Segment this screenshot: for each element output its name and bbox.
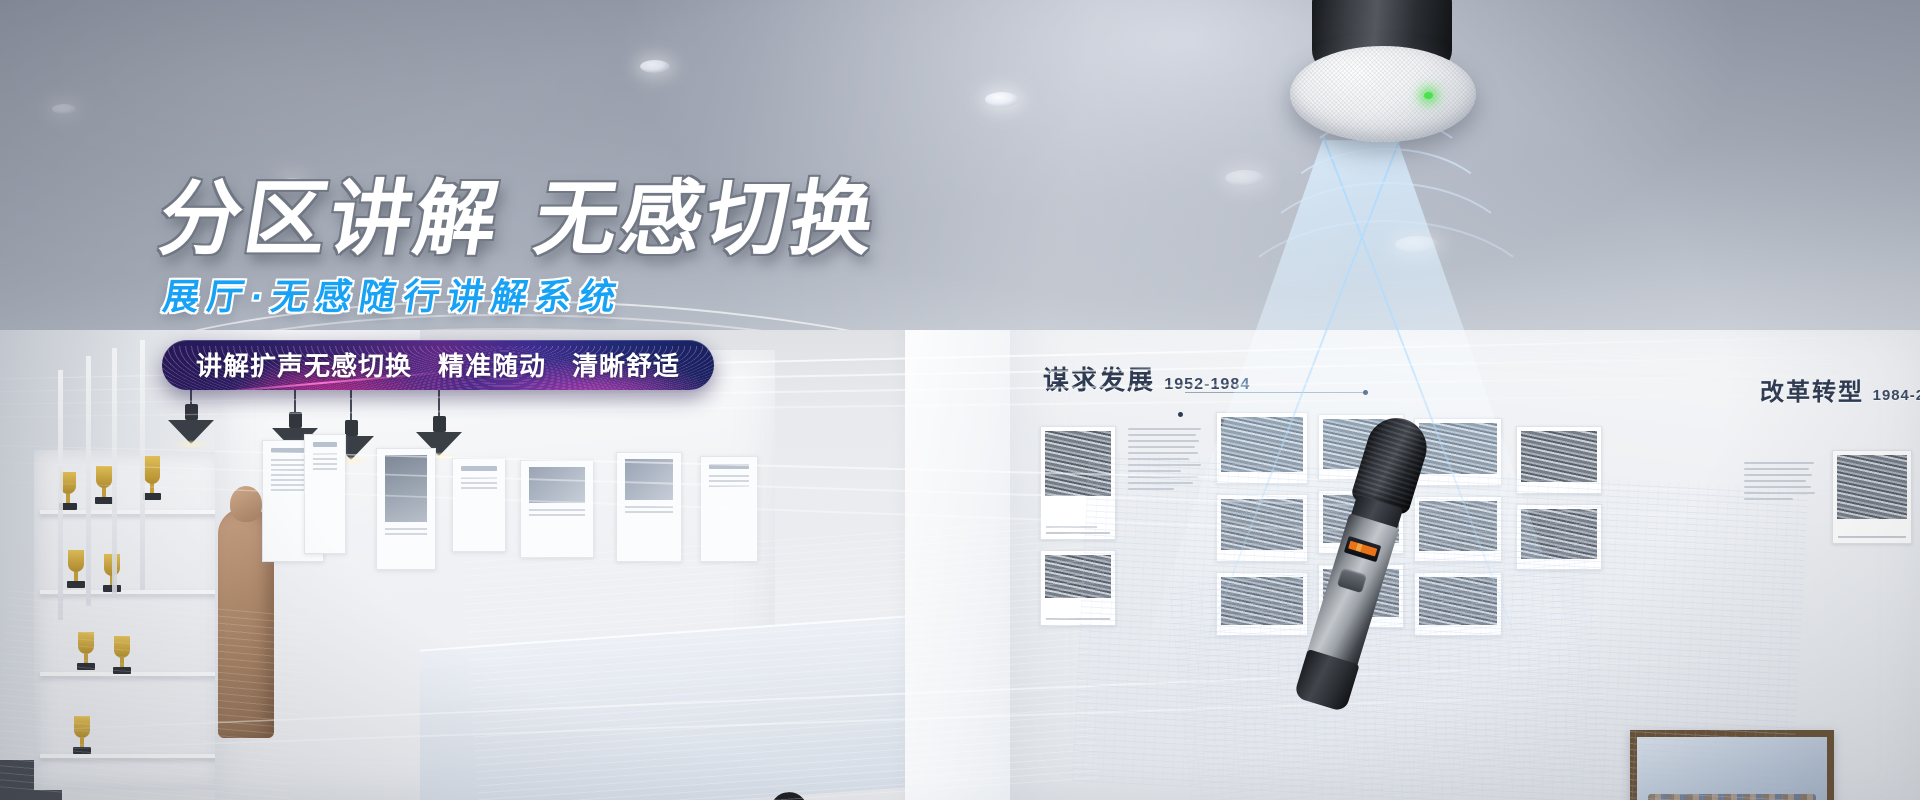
wall-heading-dot (1178, 412, 1183, 417)
page-title-part-1: 分区讲解 (153, 174, 507, 265)
wall-fin (112, 348, 117, 598)
wall-fin (140, 340, 145, 590)
ceiling-downlight (52, 104, 76, 114)
exhibit-panel (452, 458, 506, 552)
history-text-block (1744, 462, 1818, 504)
feature-pill[interactable]: 讲解扩声无感切换精准随动清晰舒适 (162, 340, 714, 390)
feature-item-3: 清晰舒适 (572, 351, 680, 381)
wall-fin (86, 356, 91, 606)
trophy (114, 636, 130, 674)
cabinet-shelf (40, 754, 218, 758)
feature-item-2: 精准随动 (438, 351, 546, 381)
cabinet-shelf (40, 590, 218, 594)
promo-banner: 谋求发展 1952-1984 改革转型 1984-2010 (0, 0, 1920, 800)
wall-heading-2: 改革转型 1984-2010 (1760, 372, 1920, 407)
page-subtitle: 展厅·无感随行讲解系统 (160, 268, 1064, 320)
wall-fin (58, 370, 63, 620)
speaker-status-led-icon (1424, 92, 1433, 99)
ceiling-downlight (640, 60, 670, 73)
history-text-block (1128, 428, 1204, 494)
headline-copy-block: 分区讲解无感切换 展厅·无感随行讲解系统 讲解扩声无感切换精准随动清晰舒适 (160, 178, 1060, 390)
page-title-part-2: 无感切换 (529, 174, 883, 265)
framed-painting (1630, 730, 1834, 800)
exhibit-portrait-panel (376, 448, 436, 570)
feature-item-1: 讲解扩声无感切换 (196, 351, 412, 381)
ceiling-downlight (1225, 170, 1265, 186)
wall-heading-2-title: 改革转型 (1760, 379, 1864, 406)
trophy (144, 456, 160, 500)
history-photo (1040, 550, 1116, 626)
ceiling-speaker (1290, 0, 1480, 154)
feature-pill-text: 讲解扩声无感切换精准随动清晰舒适 (196, 346, 680, 383)
cabinet-shelf (40, 510, 218, 514)
history-photo (1832, 450, 1912, 544)
wall-heading-2-years: 1984-2010 (1873, 388, 1920, 404)
page-title: 分区讲解无感切换 (153, 178, 1066, 262)
exhibition-hall-photo: 谋求发展 1952-1984 改革转型 1984-2010 (0, 330, 1920, 800)
trophy (78, 632, 94, 670)
trophy (68, 550, 84, 588)
ceiling-downlight (985, 92, 1019, 107)
exhibit-panel (520, 460, 594, 558)
speaker-mesh-dome (1290, 46, 1476, 142)
